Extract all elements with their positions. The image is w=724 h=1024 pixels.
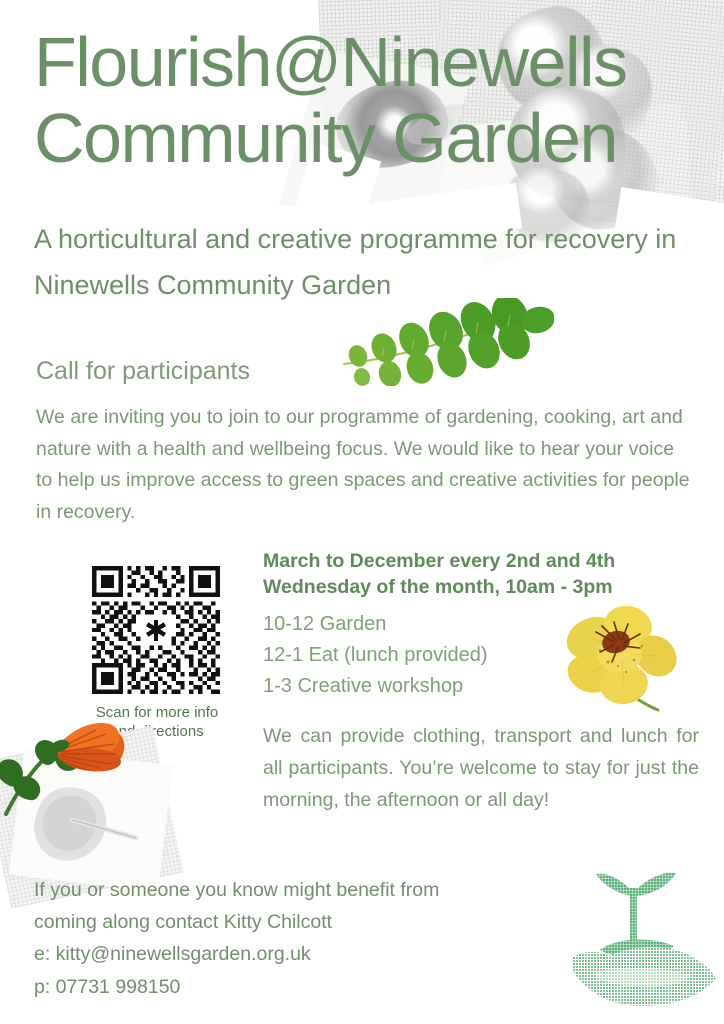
list-item: 1-3 Creative workshop [263, 671, 663, 702]
qr-code-group[interactable]: Scan for more info and directions [92, 566, 222, 741]
schedule-list: 10-12 Garden 12-1 Eat (lunch provided) 1… [263, 609, 663, 702]
page-title-line-2: Community Garden [34, 100, 714, 176]
qr-caption-line-2: and directions [110, 723, 203, 740]
contact-line-1: If you or someone you know might benefit… [34, 874, 594, 906]
contact-block: If you or someone you know might benefit… [34, 874, 594, 1003]
poster-canvas: Flourish@Ninewells Community Garden A ho… [0, 0, 724, 1024]
contact-email[interactable]: e: kitty@ninewellsgarden.org.uk [34, 938, 594, 970]
paper-panel-plain [9, 747, 173, 892]
provision-paragraph: We can provide clothing, transport and l… [263, 721, 699, 816]
page-subtitle: A horticultural and creative programme f… [34, 216, 694, 309]
compound-leaf-icon [342, 298, 554, 386]
qr-code-icon[interactable] [92, 566, 220, 694]
pressed-leaf-icon [26, 780, 146, 872]
intro-paragraph: We are inviting you to join to our progr… [36, 402, 692, 528]
section-heading: Call for participants [36, 357, 250, 386]
contact-phone[interactable]: p: 07731 998150 [34, 971, 594, 1003]
list-item: 12-1 Eat (lunch provided) [263, 640, 663, 671]
schedule-heading: March to December every 2nd and 4th Wedn… [263, 549, 713, 600]
provision-last-line: or all day! [465, 789, 550, 811]
qr-caption: Scan for more info and directions [92, 703, 222, 741]
schedule-heading-line-1: March to December every 2nd and 4th [263, 550, 615, 572]
page-title-line-1: Flourish@Ninewells [34, 24, 714, 100]
page-title: Flourish@Ninewells Community Garden [34, 24, 714, 177]
list-item: 10-12 Garden [263, 609, 663, 640]
schedule-heading-line-2: Wednesday of the month, 10am - 3pm [263, 576, 613, 598]
contact-line-2: coming along contact Kitty Chilcott [34, 906, 594, 938]
qr-caption-line-1: Scan for more info [96, 704, 219, 721]
